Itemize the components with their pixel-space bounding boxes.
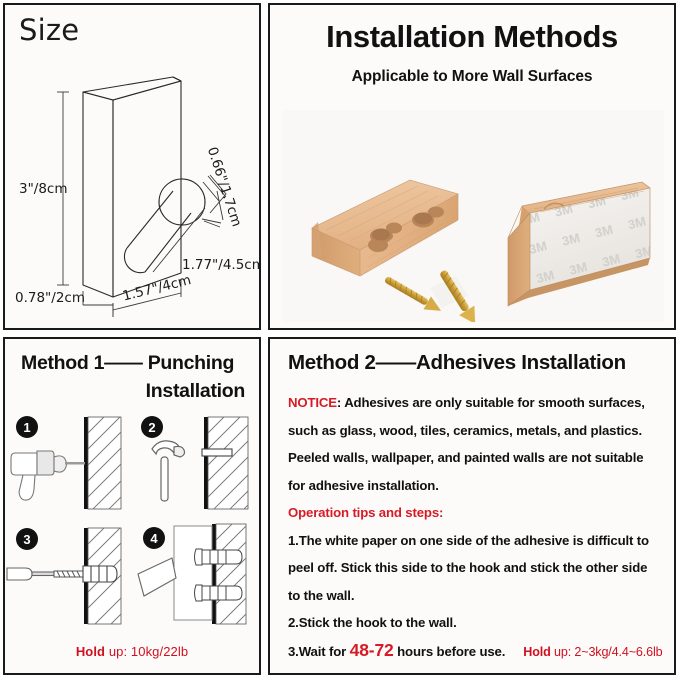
dim-height-label: 3"/8cm bbox=[19, 181, 68, 197]
panel-installation-methods: Installation Methods Applicable to More … bbox=[268, 3, 676, 330]
step-1-line-b: peel off. Stick this side to the hook an… bbox=[288, 554, 662, 582]
step-3-post: hours before use. bbox=[394, 644, 506, 659]
method2-title: Method 2——Adhesives Installation bbox=[288, 351, 626, 375]
method1-hold-value: up: 10kg/22lb bbox=[105, 644, 188, 659]
notice-line: NOTICE: Adhesives are only suitable for … bbox=[288, 389, 662, 417]
method1-steps: 1 bbox=[5, 411, 259, 633]
step-3-screwdriver: 3 bbox=[5, 522, 132, 633]
hammer-icon: 2 bbox=[132, 411, 259, 522]
dim-depth-label: 0.78"/2cm bbox=[15, 290, 85, 306]
step-1-line-c: to the wall. bbox=[288, 582, 662, 610]
step-4-mount-hook: 4 bbox=[132, 522, 259, 633]
tips-heading: Operation tips and steps: bbox=[288, 499, 662, 527]
notice-text: : Adhesives are only suitable for smooth… bbox=[337, 395, 645, 410]
notice-line-4: for adhesive installation. bbox=[288, 472, 662, 500]
panel-size: Size bbox=[3, 3, 261, 330]
svg-text:4: 4 bbox=[150, 531, 158, 546]
svg-text:1: 1 bbox=[23, 420, 30, 435]
step-3-text: 3.Wait for 48-72 hours before use. bbox=[288, 637, 505, 666]
infographic-sheet: Size bbox=[0, 0, 679, 678]
panel-method-1: Method 1—— Punching Installation 1 bbox=[3, 337, 261, 675]
notice-line-2: such as glass, wood, tiles, ceramics, me… bbox=[288, 417, 662, 445]
product-photo: 3M bbox=[282, 110, 664, 322]
method1-hold-capacity: Hold up: 10kg/22lb bbox=[5, 644, 259, 659]
method2-hold-value: up: 2~3kg/4.4~6.6lb bbox=[551, 645, 663, 659]
drill-icon: 1 bbox=[5, 411, 132, 522]
step-3-hours: 48-72 bbox=[350, 640, 394, 660]
mounted-hook-icon: 4 bbox=[132, 522, 259, 633]
svg-text:3: 3 bbox=[23, 532, 30, 547]
panel-method-2: Method 2——Adhesives Installation NOTICE:… bbox=[268, 337, 676, 675]
notice-line-3: Peeled walls, wallpaper, and painted wal… bbox=[288, 444, 662, 472]
method1-hold-label: Hold bbox=[76, 644, 105, 659]
dim-hook-length-label: 1.77"/4.5cm bbox=[182, 257, 261, 273]
method1-title-line2: Installation bbox=[21, 377, 253, 405]
screwdriver-icon: 3 bbox=[5, 522, 132, 633]
method2-hold-label: Hold bbox=[523, 645, 550, 659]
step-1-drill: 1 bbox=[5, 411, 132, 522]
step-3-pre: 3.Wait for bbox=[288, 644, 350, 659]
installation-subtitle: Applicable to More Wall Surfaces bbox=[270, 68, 674, 86]
step-3-line: 3.Wait for 48-72 hours before use. Hold … bbox=[288, 637, 662, 667]
step-2-hammer: 2 bbox=[132, 411, 259, 522]
method2-body: NOTICE: Adhesives are only suitable for … bbox=[288, 389, 662, 666]
method1-title-line1: Method 1—— Punching bbox=[21, 352, 234, 374]
method2-hold-capacity: Hold up: 2~3kg/4.4~6.6lb bbox=[523, 639, 662, 667]
installation-title: Installation Methods bbox=[270, 19, 674, 55]
svg-text:2: 2 bbox=[148, 420, 155, 435]
step-1-line-a: 1.The white paper on one side of the adh… bbox=[288, 527, 662, 555]
notice-label: NOTICE bbox=[288, 395, 337, 410]
step-2-line: 2.Stick the hook to the wall. bbox=[288, 609, 662, 637]
product-photo-illustration: 3M bbox=[282, 110, 664, 322]
method1-title: Method 1—— Punching Installation bbox=[21, 349, 253, 405]
